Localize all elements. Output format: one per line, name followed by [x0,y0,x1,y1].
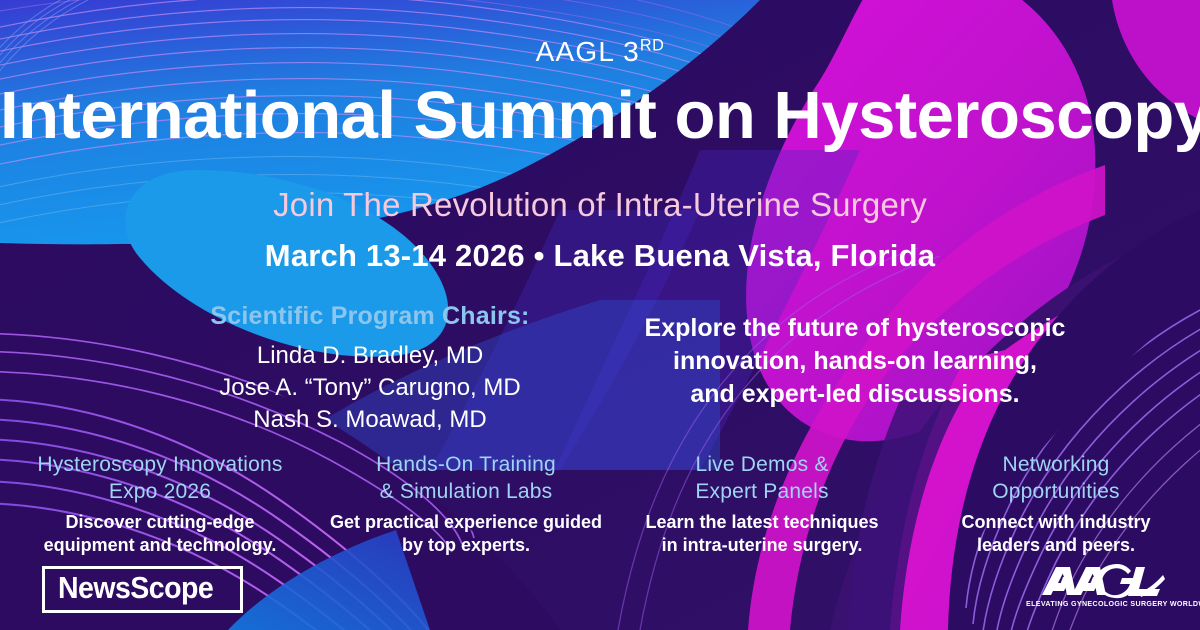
feature-body: Get practical experience guided by top e… [326,511,606,557]
aagl-mark-icon [1036,563,1166,599]
aagl-tagline: ELEVATING GYNECOLOGIC SURGERY WORLDWIDE [1026,600,1176,608]
feature-body-line: Connect with industry [918,511,1194,534]
chair-name: Nash S. Moawad, MD [150,404,590,436]
feature-title: Hands-On Training & Simulation Labs [326,452,606,505]
page-title: International Summit on Hysteroscopy [0,82,1200,149]
feature-body-line: leaders and peers. [918,534,1194,557]
feature-hands-on-training: Hands-On Training & Simulation Labs Get … [320,452,612,557]
feature-hysteroscopy-innovations-expo: Hysteroscopy Innovations Expo 2026 Disco… [0,452,320,557]
feature-title-line: Expert Panels [618,479,906,506]
explore-line: innovation, hands-on learning, [600,345,1110,378]
event-dateline: March 13-14 2026 • Lake Buena Vista, Flo… [0,238,1200,274]
feature-body: Learn the latest techniques in intra-ute… [618,511,906,557]
explore-line: and expert-led discussions. [600,378,1110,411]
program-chairs-block: Scientific Program Chairs: Linda D. Brad… [150,302,590,436]
promotional-poster: AAGL 3RD International Summit on Hystero… [0,0,1200,630]
feature-body-line: by top experts. [326,534,606,557]
poster-content: AAGL 3RD International Summit on Hystero… [0,0,1200,630]
feature-title-line: Opportunities [918,479,1194,506]
feature-title: Live Demos & Expert Panels [618,452,906,505]
feature-body: Discover cutting-edge equipment and tech… [6,511,314,557]
eyebrow-prefix: AAGL 3 [536,36,640,67]
newsscope-logo-text: NewsScope [58,572,213,605]
eyebrow-ordinal-suffix: RD [640,37,664,55]
feature-networking-opportunities: Networking Opportunities Connect with in… [912,452,1200,557]
feature-body-line: Discover cutting-edge [6,511,314,534]
feature-title-line: Expo 2026 [6,479,314,506]
chair-name: Linda D. Bradley, MD [150,340,590,372]
feature-title-line: Hysteroscopy Innovations [6,452,314,479]
feature-title: Hysteroscopy Innovations Expo 2026 [6,452,314,505]
eyebrow-text: AAGL 3RD [0,36,1200,68]
explore-statement: Explore the future of hysteroscopic inno… [600,312,1110,411]
feature-body-line: equipment and technology. [6,534,314,557]
feature-title-line: & Simulation Labs [326,479,606,506]
feature-columns: Hysteroscopy Innovations Expo 2026 Disco… [0,452,1200,557]
feature-title-line: Networking [918,452,1194,479]
feature-title: Networking Opportunities [918,452,1194,505]
feature-live-demos-expert-panels: Live Demos & Expert Panels Learn the lat… [612,452,912,557]
feature-body-line: Get practical experience guided [326,511,606,534]
feature-body-line: Learn the latest techniques [618,511,906,534]
feature-body: Connect with industry leaders and peers. [918,511,1194,557]
aagl-logo[interactable]: ELEVATING GYNECOLOGIC SURGERY WORLDWIDE [1026,563,1176,608]
chairs-heading: Scientific Program Chairs: [150,302,590,331]
tagline: Join The Revolution of Intra-Uterine Sur… [0,186,1200,224]
feature-body-line: in intra-uterine surgery. [618,534,906,557]
explore-line: Explore the future of hysteroscopic [600,312,1110,345]
chair-name: Jose A. “Tony” Carugno, MD [150,372,590,404]
feature-title-line: Hands-On Training [326,452,606,479]
feature-title-line: Live Demos & [618,452,906,479]
newsscope-logo[interactable]: NewsScope [42,566,243,613]
